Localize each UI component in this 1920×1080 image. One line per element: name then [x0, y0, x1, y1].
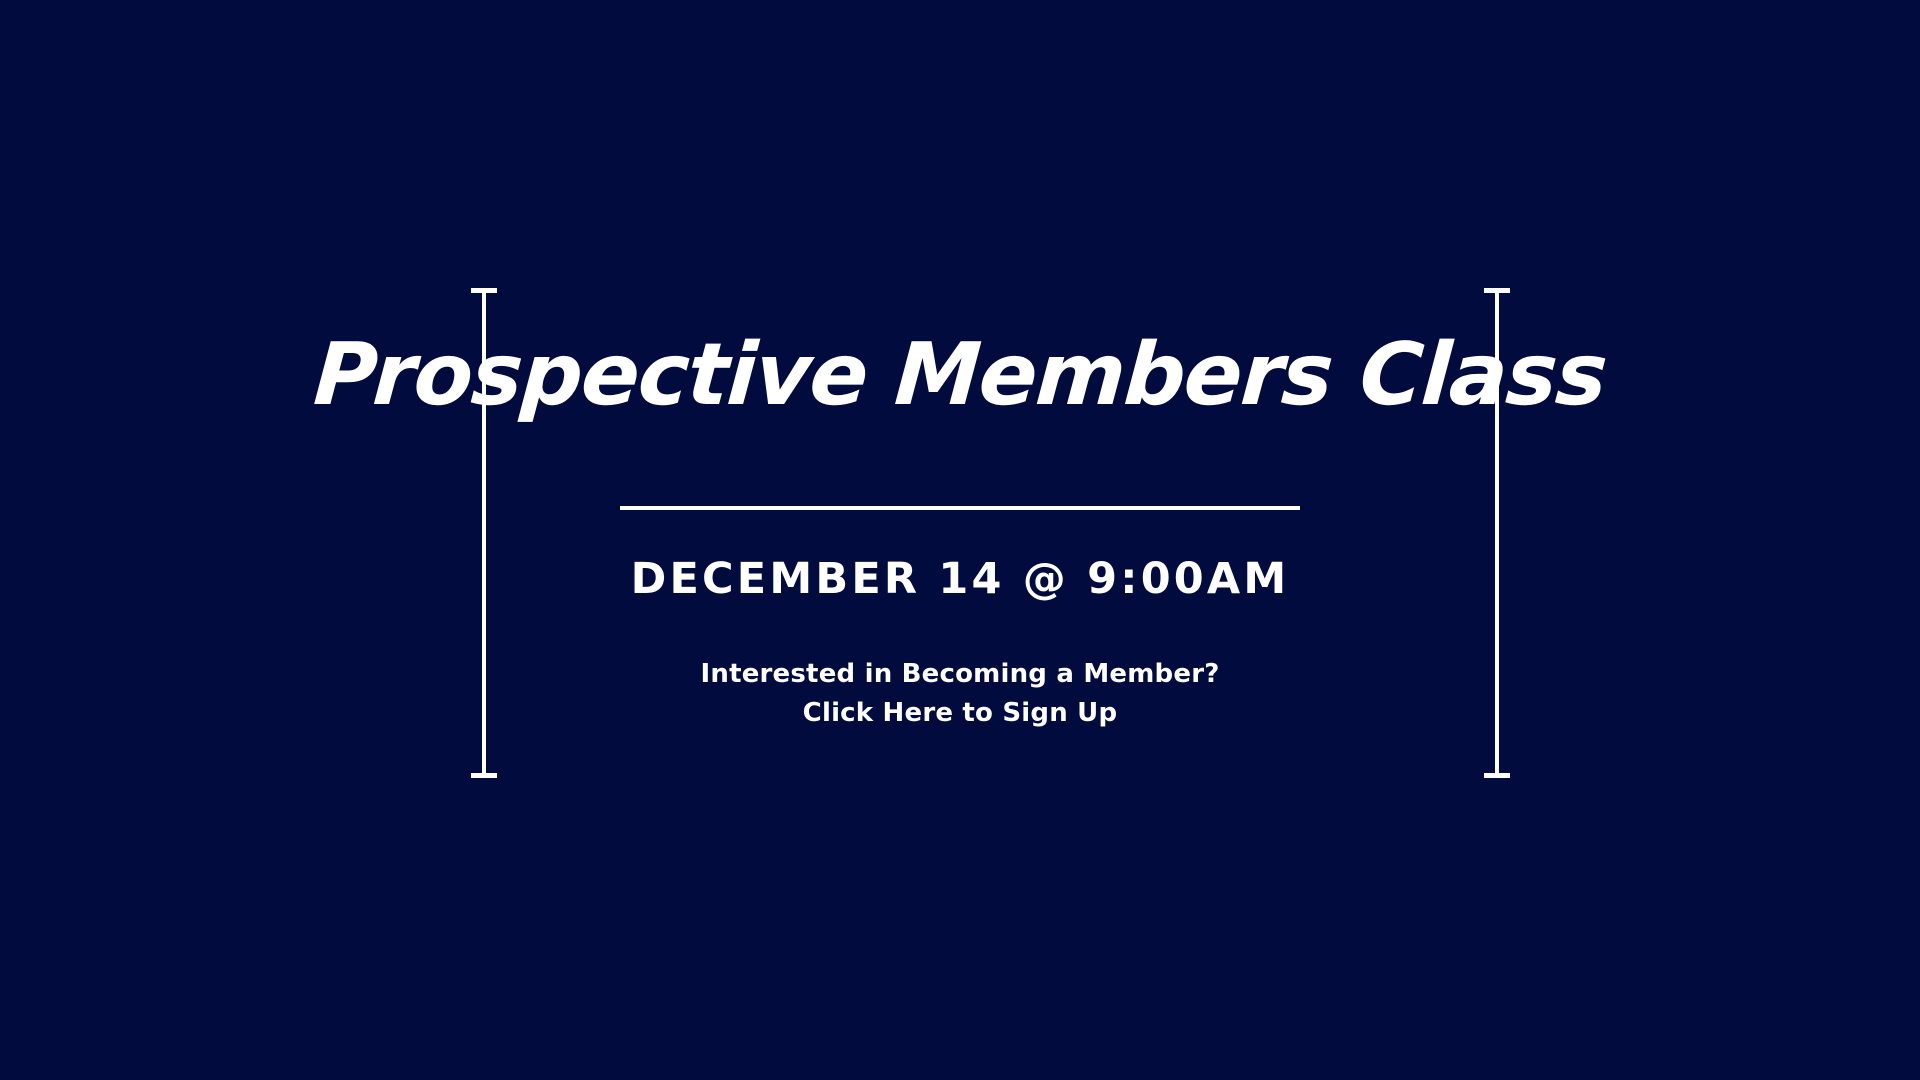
- right-bracket-bottom-cap: [1484, 773, 1510, 778]
- event-title: Prospective Members Class: [0, 332, 1920, 420]
- event-datetime: DECEMBER 14 @ 9:00AM: [0, 554, 1920, 604]
- signup-callout-action[interactable]: Click Here to Sign Up: [0, 694, 1920, 733]
- title-divider: [620, 506, 1300, 510]
- signup-callout[interactable]: Interested in Becoming a Member? Click H…: [0, 655, 1920, 733]
- announcement-slide: Prospective Members Class DECEMBER 14 @ …: [0, 0, 1920, 1080]
- signup-callout-question: Interested in Becoming a Member?: [0, 655, 1920, 694]
- left-bracket-bottom-cap: [471, 773, 497, 778]
